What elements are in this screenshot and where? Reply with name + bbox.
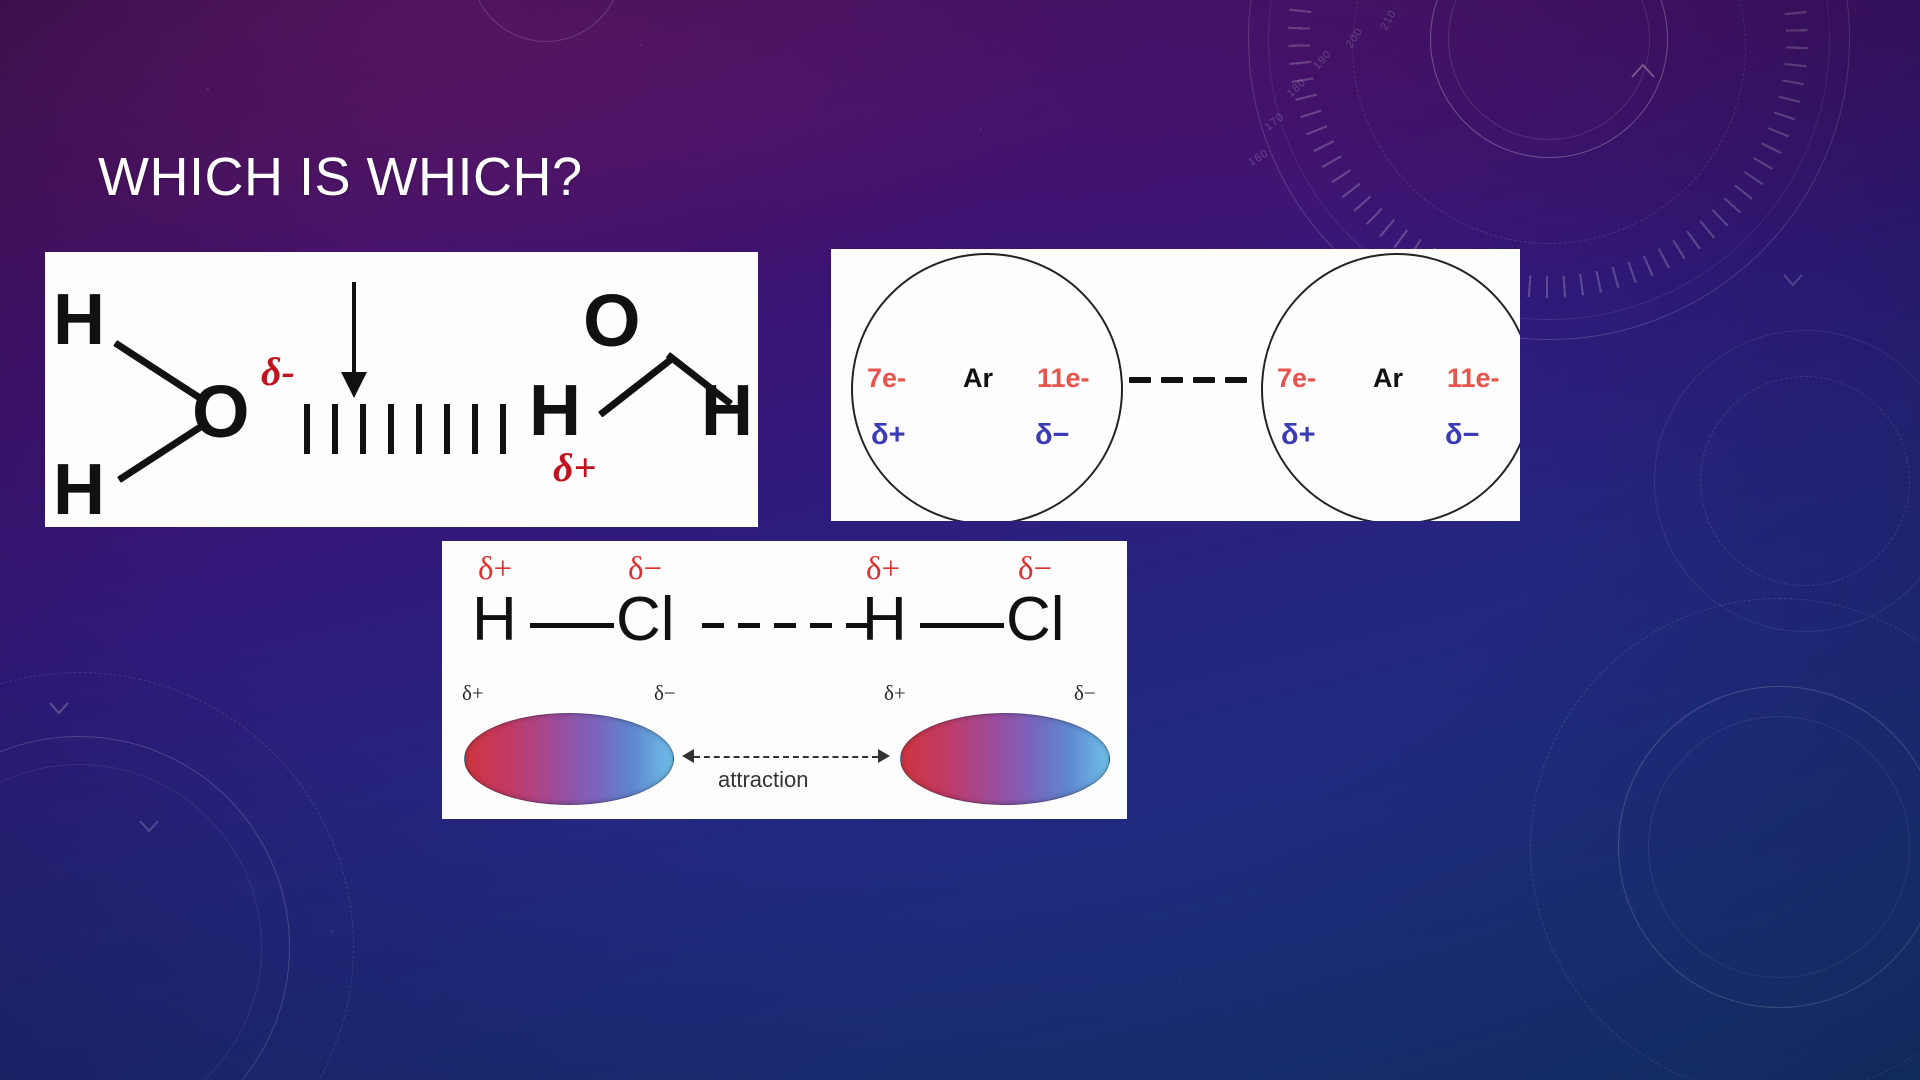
dispersion-connector-dash (1193, 377, 1215, 383)
atom-symbol-left: Ar (963, 365, 993, 392)
pointer-arrow-shaft (352, 282, 356, 377)
atom-label-o-left: O (192, 375, 250, 449)
attraction-label: attraction (718, 767, 809, 793)
electron-cloud-left (464, 713, 674, 805)
attraction-arrow-head-left (682, 749, 694, 763)
hydrogen-bond-dash (304, 404, 310, 454)
dispersion-connector-dash (1161, 377, 1183, 383)
dispersion-connector-dash (1225, 377, 1247, 383)
bottom-charge-1: δ− (654, 683, 676, 704)
attraction-arrow-line (694, 756, 878, 758)
dipole-connector-dash (774, 623, 796, 628)
top-charge-1: δ− (628, 553, 662, 586)
hydrogen-bond-dash (360, 404, 366, 454)
covalent-bond-1 (530, 623, 614, 628)
top-charge-2: δ+ (866, 553, 900, 586)
charge-left-2: δ− (1035, 421, 1070, 450)
electron-count-left-1: 7e- (867, 365, 906, 392)
hydrogen-bond-dash (332, 404, 338, 454)
electron-count-left-2: 11e- (1037, 365, 1090, 392)
slide-canvas: 210 200 190 180 170 160 WHICH IS WHICH? … (0, 0, 1920, 1080)
dipole-connector-dash (702, 623, 724, 628)
atom-symbol-right: Ar (1373, 365, 1403, 392)
atom-cl-2: Cl (1006, 589, 1065, 651)
atom-label-o-right: O (583, 284, 641, 358)
hydrogen-bond-dash (444, 404, 450, 454)
bottom-charge-3: δ− (1074, 683, 1096, 704)
top-charge-0: δ+ (478, 553, 512, 586)
atom-h-2: H (862, 589, 907, 651)
page-title: WHICH IS WHICH? (98, 146, 582, 208)
charge-right-2: δ− (1445, 421, 1480, 450)
top-charge-3: δ− (1018, 553, 1052, 586)
atom-label-h-top-left: H (53, 284, 105, 356)
covalent-bond-2 (920, 623, 1004, 628)
dipole-connector-dash (738, 623, 760, 628)
electron-count-right-1: 7e- (1277, 365, 1316, 392)
bottom-charge-2: δ+ (884, 683, 906, 704)
atom-label-h-center: H (529, 375, 581, 447)
attraction-arrow-head-right (878, 749, 890, 763)
electron-cloud-right (900, 713, 1110, 805)
charge-left-1: δ+ (871, 421, 906, 450)
atom-label-h-bottom-left: H (53, 454, 105, 526)
hydrogen-bond-dash (416, 404, 422, 454)
bond-h-o-right-upper (598, 357, 673, 418)
figure-hydrogen-bonding[interactable]: H H O δ- H δ+ O H (45, 252, 758, 527)
figure-london-dispersion[interactable]: 7e- Ar 11e- δ+ δ− 7e- Ar 11e- δ+ δ− (831, 249, 1520, 521)
atom-h-1: H (472, 589, 517, 651)
hydrogen-bond-dash (472, 404, 478, 454)
charge-label-delta-minus: δ- (261, 348, 295, 395)
hydrogen-bond-dash (388, 404, 394, 454)
charge-label-delta-plus: δ+ (553, 444, 596, 491)
bottom-charge-0: δ+ (462, 683, 484, 704)
figure-dipole-dipole[interactable]: δ+ δ− δ+ δ− H Cl H Cl δ+ δ− δ+ δ− attrac… (442, 541, 1127, 819)
atom-cl-1: Cl (616, 589, 675, 651)
bond-h-o-upper (113, 340, 201, 400)
electron-count-right-2: 11e- (1447, 365, 1500, 392)
dispersion-connector-dash (1129, 377, 1151, 383)
hydrogen-bond-dash (500, 404, 506, 454)
pointer-arrow-head (341, 372, 367, 398)
dipole-connector-dash (810, 623, 832, 628)
charge-right-1: δ+ (1281, 421, 1316, 450)
